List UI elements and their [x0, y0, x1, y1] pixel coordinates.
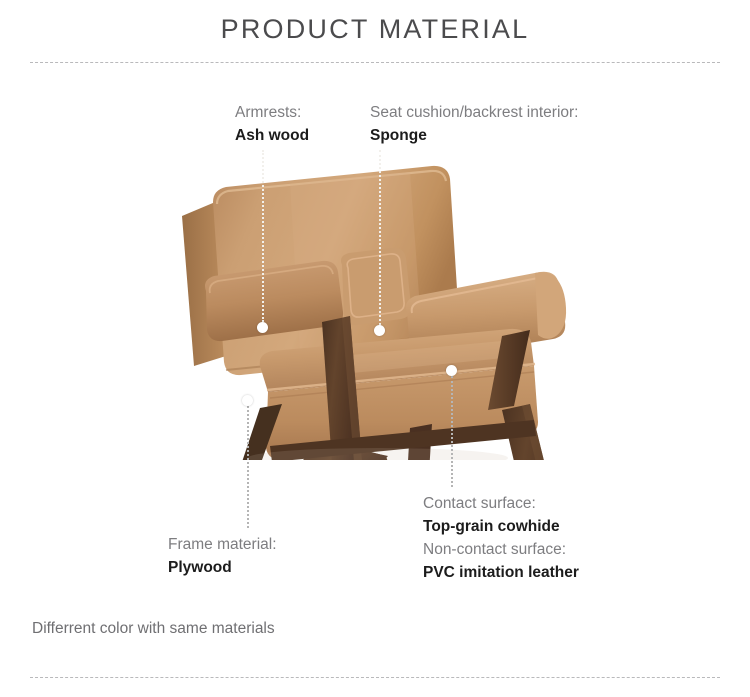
footer-note: Differrent color with same materials [32, 620, 275, 638]
callout-seat-interior-label: Seat cushion/backrest interior: [370, 101, 579, 124]
callout-frame: Frame material: Plywood [168, 533, 277, 579]
callout-noncontact-surface-label: Non-contact surface: [423, 538, 579, 561]
callout-contact-surface-value: Top-grain cowhide [423, 515, 579, 538]
page-title: PRODUCT MATERIAL [0, 14, 750, 45]
leader-dot-frame [242, 395, 253, 406]
callout-frame-label: Frame material: [168, 533, 277, 556]
callout-noncontact-surface-value: PVC imitation leather [423, 561, 579, 584]
callout-seat-interior: Seat cushion/backrest interior: Sponge [370, 101, 579, 147]
leader-line-armrests [262, 150, 264, 322]
product-material-infographic: PRODUCT MATERIAL [0, 0, 750, 697]
divider-top [30, 62, 720, 63]
leader-dot-surface [446, 365, 457, 376]
callout-armrests-label: Armrests: [235, 101, 309, 124]
chair-illustration [110, 160, 580, 460]
armrest-right-endcap [535, 272, 566, 339]
callout-contact-surface-label: Contact surface: [423, 492, 579, 515]
leader-dot-seat-interior [374, 325, 385, 336]
callout-seat-interior-value: Sponge [370, 124, 579, 147]
callout-armrests-value: Ash wood [235, 124, 309, 147]
divider-bottom [30, 677, 720, 678]
callout-surface: Contact surface: Top-grain cowhide Non-c… [423, 492, 579, 584]
leader-dot-armrests [257, 322, 268, 333]
leader-line-frame [247, 406, 249, 528]
callout-armrests: Armrests: Ash wood [235, 101, 309, 147]
leader-line-seat-interior [379, 150, 381, 325]
callout-frame-value: Plywood [168, 556, 277, 579]
leader-line-surface [451, 376, 453, 487]
